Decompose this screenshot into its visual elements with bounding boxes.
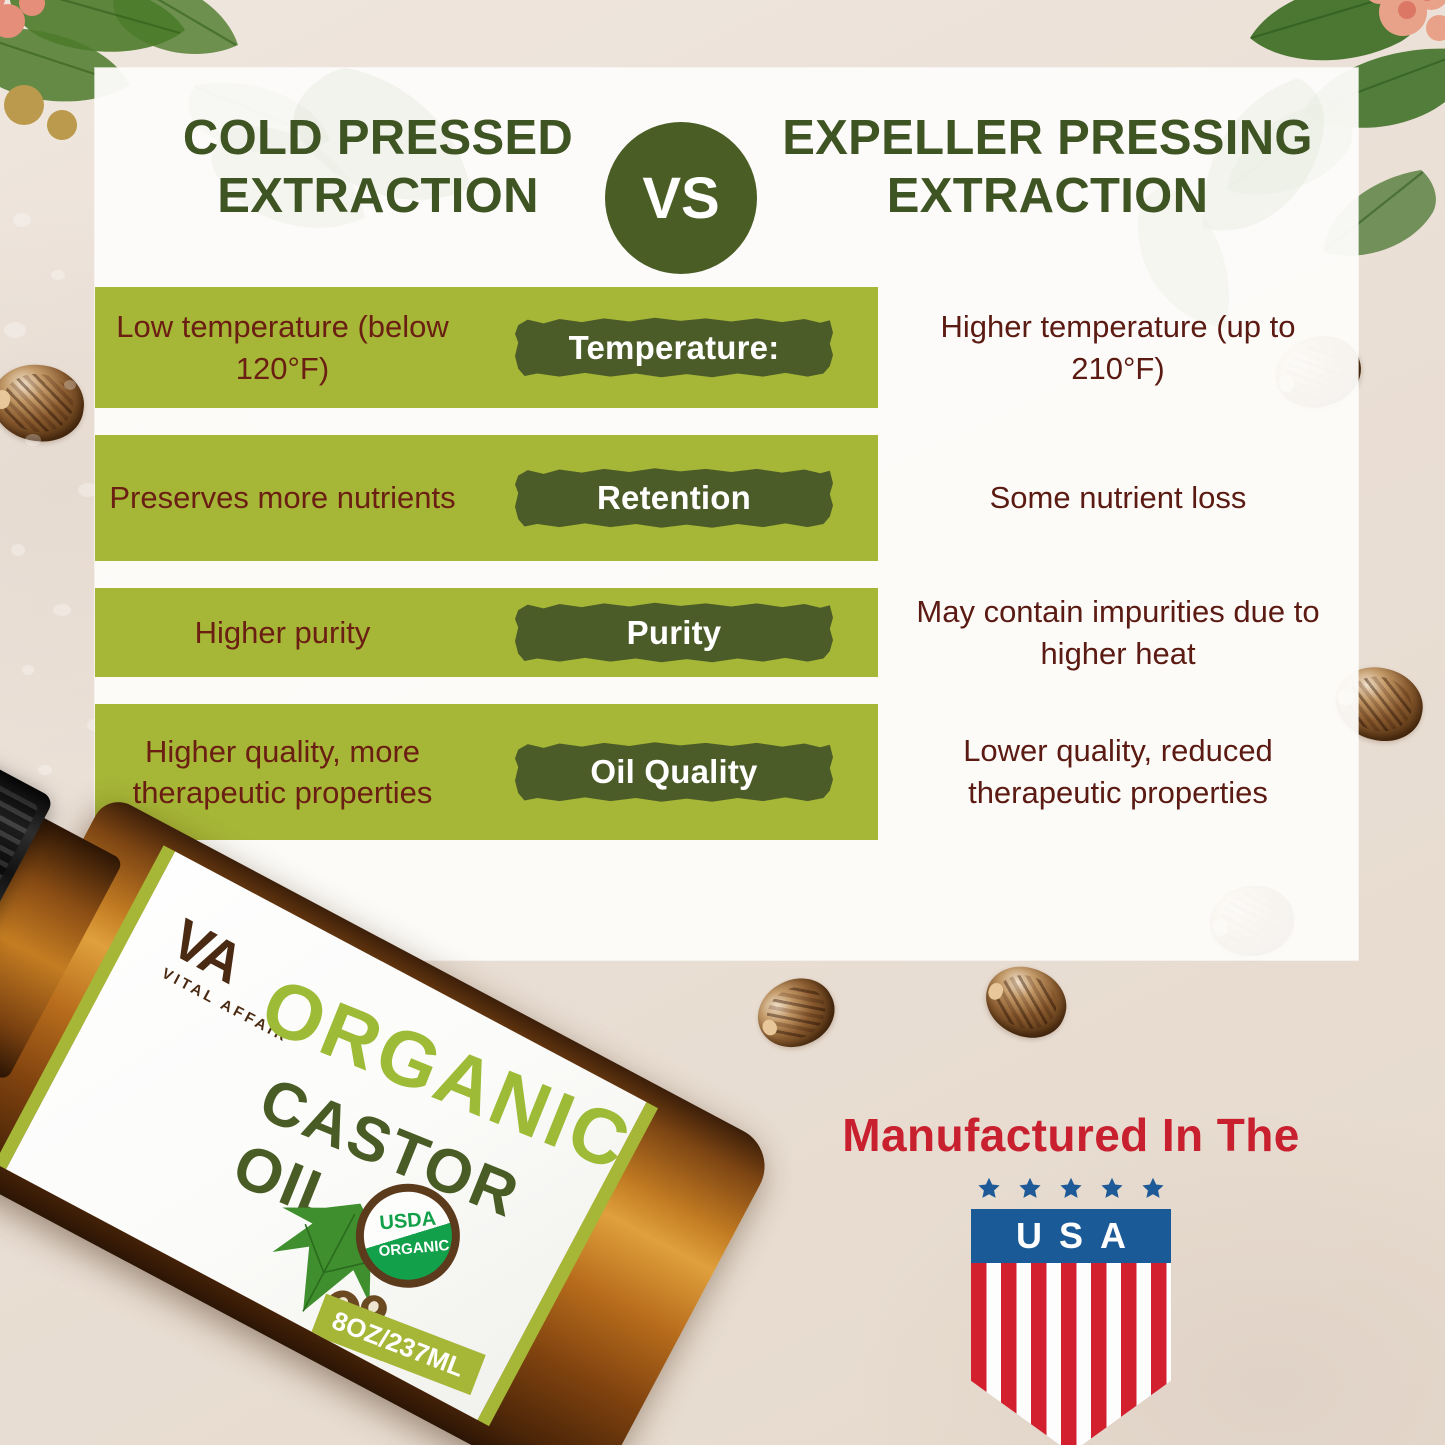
attribute-cell: Retention	[470, 467, 878, 529]
attribute-brush: Retention	[515, 467, 833, 529]
product-claim-ribbon: 100% PURE COLD-PRESSED HEXANE-FREE EXTRA…	[0, 1390, 227, 1445]
comparison-row: Low temperature (below 120°F) Temperatur…	[95, 287, 1358, 408]
attribute-brush: Oil Quality	[515, 741, 833, 803]
star-icon	[1099, 1176, 1125, 1202]
expeller-value: May contain impurities due to higher hea…	[878, 588, 1358, 677]
attribute-cell: Oil Quality	[470, 741, 878, 803]
attribute-label: Purity	[627, 614, 722, 652]
row-band: Higher purity Purity	[95, 588, 878, 677]
expeller-value: Lower quality, reduced therapeutic prope…	[878, 704, 1358, 840]
row-band: Preserves more nutrients Retention	[95, 435, 878, 561]
card-header: COLD PRESSED EXTRACTION VS EXPELLER PRES…	[95, 110, 1358, 280]
attribute-label: Oil Quality	[590, 753, 757, 791]
star-icon	[976, 1176, 1002, 1202]
usa-letter-u: U	[1016, 1218, 1042, 1254]
expeller-value: Higher temperature (up to 210°F)	[878, 287, 1358, 408]
attribute-brush: Temperature:	[515, 317, 833, 379]
comparison-row: Higher quality, more therapeutic propert…	[95, 704, 1358, 840]
usa-stripes	[971, 1263, 1171, 1445]
vs-badge: VS	[605, 122, 757, 274]
comparison-row: Preserves more nutrients Retention Some …	[95, 435, 1358, 561]
attribute-cell: Temperature:	[470, 317, 878, 379]
usa-letter-a: A	[1100, 1218, 1126, 1254]
attribute-cell: Purity	[470, 602, 878, 664]
castor-seed	[746, 966, 845, 1060]
comparison-row: Higher purity Purity May contain impurit…	[95, 588, 1358, 677]
star-icon	[1017, 1176, 1043, 1202]
comparison-rows: Low temperature (below 120°F) Temperatur…	[95, 287, 1358, 840]
row-band: Low temperature (below 120°F) Temperatur…	[95, 287, 878, 408]
vs-label: VS	[642, 165, 719, 232]
attribute-brush: Purity	[515, 602, 833, 664]
infographic-stage: COLD PRESSED EXTRACTION VS EXPELLER PRES…	[0, 0, 1445, 1445]
row-gap	[95, 561, 1358, 588]
attribute-label: Temperature:	[569, 329, 780, 367]
row-band: Higher quality, more therapeutic propert…	[95, 704, 878, 840]
cold-pressed-title: COLD PRESSED EXTRACTION	[123, 110, 633, 226]
cold-pressed-value: Preserves more nutrients	[95, 477, 470, 518]
usa-stars	[971, 1176, 1171, 1202]
castor-seed	[975, 955, 1077, 1049]
usa-letter-s: S	[1059, 1218, 1083, 1254]
comparison-card: COLD PRESSED EXTRACTION VS EXPELLER PRES…	[95, 68, 1358, 960]
row-gap	[95, 408, 1358, 435]
cold-pressed-value: Higher purity	[95, 612, 470, 653]
cold-pressed-value: Low temperature (below 120°F)	[95, 306, 470, 388]
expeller-pressing-title: EXPELLER PRESSING EXTRACTION	[755, 110, 1340, 226]
usda-seal-line1: USDA	[379, 1208, 437, 1236]
usa-shield: U S A	[971, 1176, 1171, 1445]
made-in-usa-badge: Manufactured In The U S A	[836, 1108, 1306, 1445]
star-icon	[1140, 1176, 1166, 1202]
cold-pressed-value: Higher quality, more therapeutic propert…	[95, 731, 470, 813]
attribute-label: Retention	[597, 479, 751, 517]
usa-letters-bar: U S A	[971, 1209, 1171, 1263]
row-gap	[95, 677, 1358, 704]
star-icon	[1058, 1176, 1084, 1202]
usa-caption: Manufactured In The	[836, 1108, 1306, 1162]
usda-seal-line2: ORGANIC	[378, 1237, 450, 1260]
expeller-value: Some nutrient loss	[878, 435, 1358, 561]
